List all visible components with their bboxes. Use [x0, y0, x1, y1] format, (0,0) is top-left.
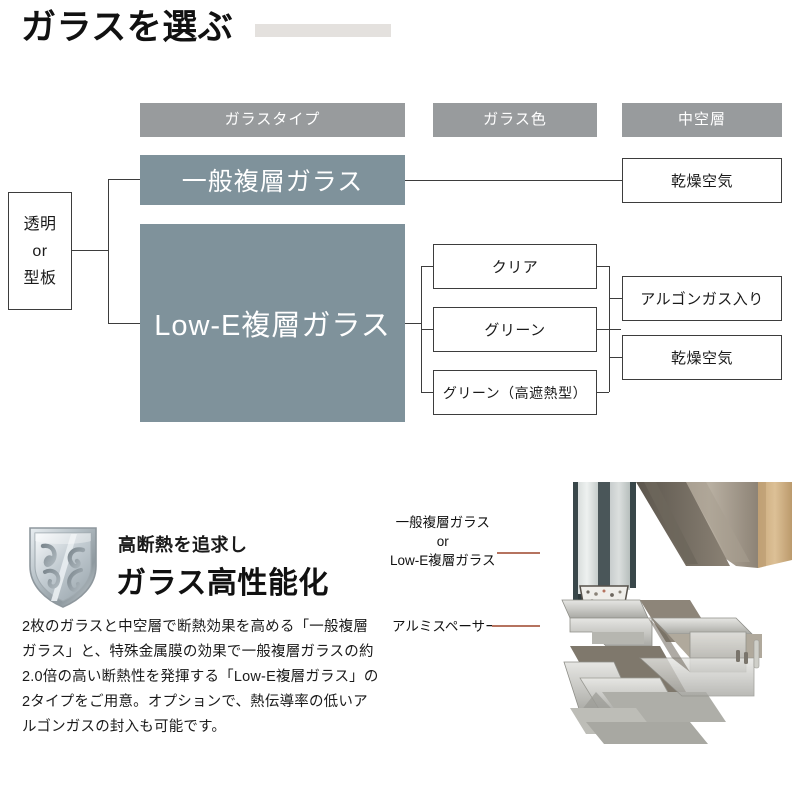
connector-to-green [421, 329, 433, 330]
glass-color-green: グリーン [433, 307, 597, 352]
photo-callout-glass-line-2: or [390, 532, 496, 551]
connector-to-green-hs [421, 392, 433, 393]
connector-green-out [597, 329, 609, 330]
column-header-air-layer: 中空層 [622, 103, 782, 137]
glass-type-lowe-box: Low-E複層ガラス [140, 224, 405, 422]
glass-color-clear: クリア [433, 244, 597, 289]
photo-callout-glass-line-3: Low-E複層ガラス [390, 551, 496, 570]
feature-sub-heading: 高断熱を追求し [118, 531, 248, 557]
glass-selection-flowchart: ガラスタイプ ガラス色 中空層 透明 or 型板 一般複層ガラス Low-E複層… [0, 0, 800, 470]
column-header-glass-color: ガラス色 [433, 103, 597, 137]
shield-emblem-icon [24, 522, 102, 610]
root-line-3: 型板 [23, 265, 56, 292]
glass-type-general-box: 一般複層ガラス [140, 155, 405, 205]
connector-merge-out [609, 329, 621, 330]
connector-to-clear [421, 266, 433, 267]
air-layer-dry-air: 乾燥空気 [622, 335, 782, 380]
connector-green-hs-out [597, 392, 609, 393]
photo-callout-glass: 一般複層ガラス or Low-E複層ガラス [390, 513, 496, 570]
air-layer-argon: アルゴンガス入り [622, 276, 782, 321]
connector-general-to-dryair [405, 180, 622, 181]
feature-body-text: 2枚のガラスと中空層で断熱効果を高める「一般複層ガラス」と、特殊金属膜の効果で一… [22, 615, 382, 740]
connector-to-dryair [609, 357, 622, 358]
column-header-glass-type: ガラスタイプ [140, 103, 405, 137]
connector-to-general [108, 179, 140, 180]
connector-root-out [72, 250, 108, 251]
root-line-2: or [32, 238, 47, 265]
connector-to-lowe [108, 323, 140, 324]
feature-heading: ガラス高性能化 [116, 558, 329, 602]
glass-color-green-high-shield: グリーン（高遮熱型） [433, 370, 597, 415]
connector-branch-spine [108, 179, 109, 323]
photo-callout-glass-line-1: 一般複層ガラス [390, 513, 496, 532]
connector-lowe-out [405, 323, 421, 324]
connector-clear-out [597, 266, 609, 267]
page-root: ガラスを選ぶ ガラスタイプ ガラス色 中空層 透明 or 型板 一般複層ガラス … [0, 0, 800, 800]
window-sash-cross-section-photo [540, 482, 800, 772]
connector-to-argon [609, 298, 622, 299]
connector-air-spine [609, 298, 610, 358]
root-box-transparency-option: 透明 or 型板 [8, 192, 72, 310]
air-layer-general-dry-air: 乾燥空気 [622, 158, 782, 203]
root-line-1: 透明 [23, 211, 56, 238]
photo-callout-spacer: アルミスペーサー [392, 617, 499, 636]
